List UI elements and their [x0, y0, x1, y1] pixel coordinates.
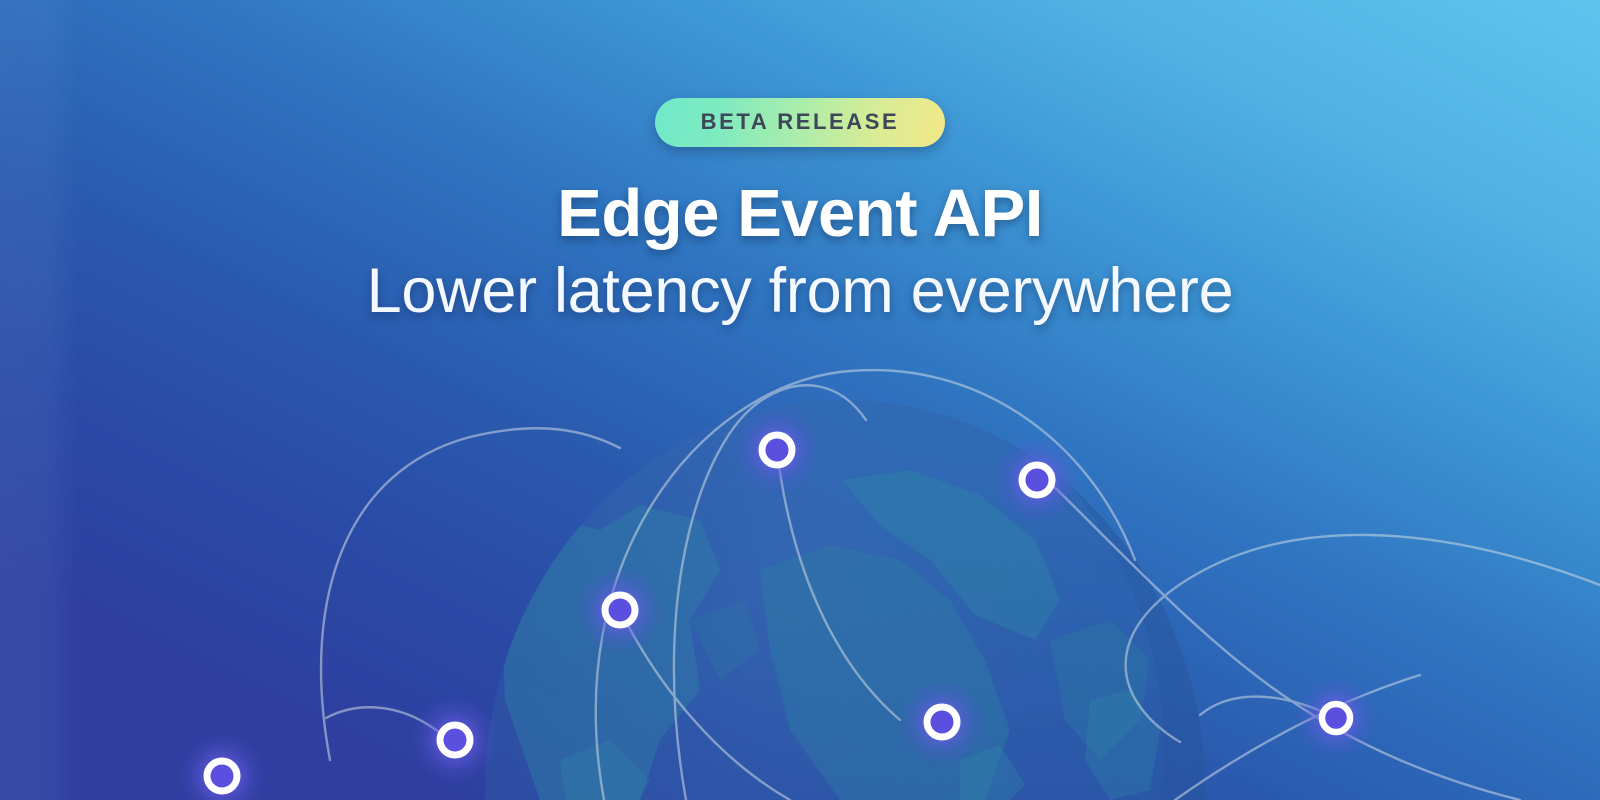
- beta-release-badge: BETA RELEASE: [655, 98, 946, 147]
- node-south-central: [898, 678, 986, 766]
- page-title: Edge Event API: [0, 179, 1600, 249]
- arc-6: [326, 707, 455, 741]
- node-north-atlantic: [733, 406, 821, 494]
- page-subtitle: Lower latency from everywhere: [0, 257, 1600, 326]
- node-far-southwest: [178, 732, 266, 800]
- network-arcs: [321, 370, 1600, 800]
- node-southeast: [1294, 676, 1378, 760]
- arc-3: [674, 385, 866, 800]
- node-central: [576, 566, 664, 654]
- globe-continents: [472, 400, 1240, 800]
- arc-8: [1175, 675, 1420, 800]
- arc-5: [1037, 470, 1520, 800]
- arc-4: [1126, 535, 1600, 742]
- arc-1: [596, 370, 1135, 800]
- arc-9: [777, 450, 900, 720]
- arc-2: [321, 428, 620, 760]
- hero-banner: BETA RELEASE Edge Event API Lower latenc…: [0, 0, 1600, 800]
- node-northeast: [993, 436, 1081, 524]
- globe-sphere: [485, 400, 1205, 800]
- node-southwest: [411, 696, 499, 784]
- network-nodes: [178, 406, 1378, 800]
- arc-7: [1200, 697, 1336, 718]
- arc-10: [620, 610, 790, 800]
- hero-content: BETA RELEASE Edge Event API Lower latenc…: [0, 0, 1600, 327]
